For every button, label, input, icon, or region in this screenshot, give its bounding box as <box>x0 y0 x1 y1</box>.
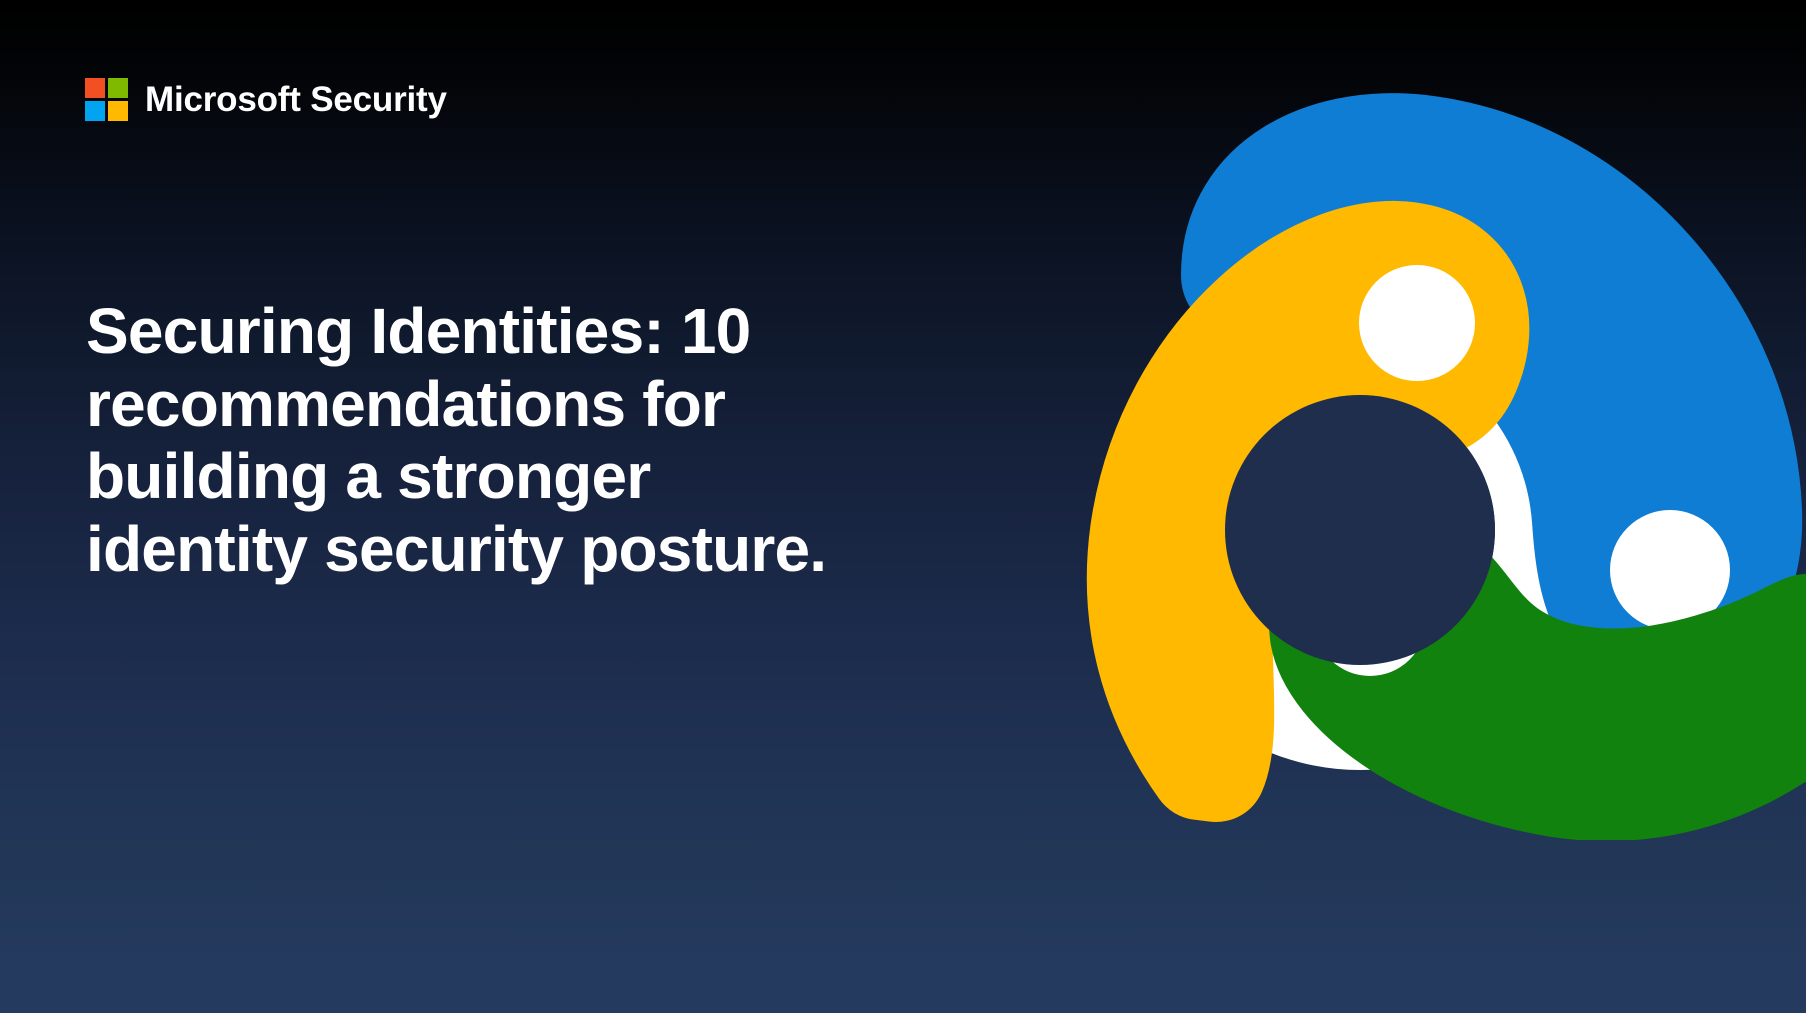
logo-square-top-right <box>108 78 128 98</box>
logo-square-bottom-left <box>85 101 105 121</box>
page-title-line-2: recommendations for <box>86 368 806 441</box>
page-title-line-3: building a stronger <box>86 440 806 513</box>
microsoft-four-squares-logo <box>85 78 128 121</box>
brand-lockup: Microsoft Security <box>85 78 447 121</box>
pinwheel-core <box>1225 395 1495 665</box>
page-title-line-1: Securing Identities: 10 <box>86 295 806 368</box>
logo-square-bottom-right <box>108 101 128 121</box>
pinwheel-svg <box>900 80 1806 840</box>
page-title: Securing Identities: 10 recommendations … <box>86 295 806 586</box>
slide-canvas: Microsoft Security Securing Identities: … <box>0 0 1806 1013</box>
yellow-arm-head-circle <box>1359 265 1475 381</box>
brand-name: Microsoft Security <box>145 82 447 117</box>
logo-square-top-left <box>85 78 105 98</box>
microsoft-security-pinwheel-swirl <box>900 80 1806 840</box>
page-title-line-4: identity security posture. <box>86 513 806 586</box>
